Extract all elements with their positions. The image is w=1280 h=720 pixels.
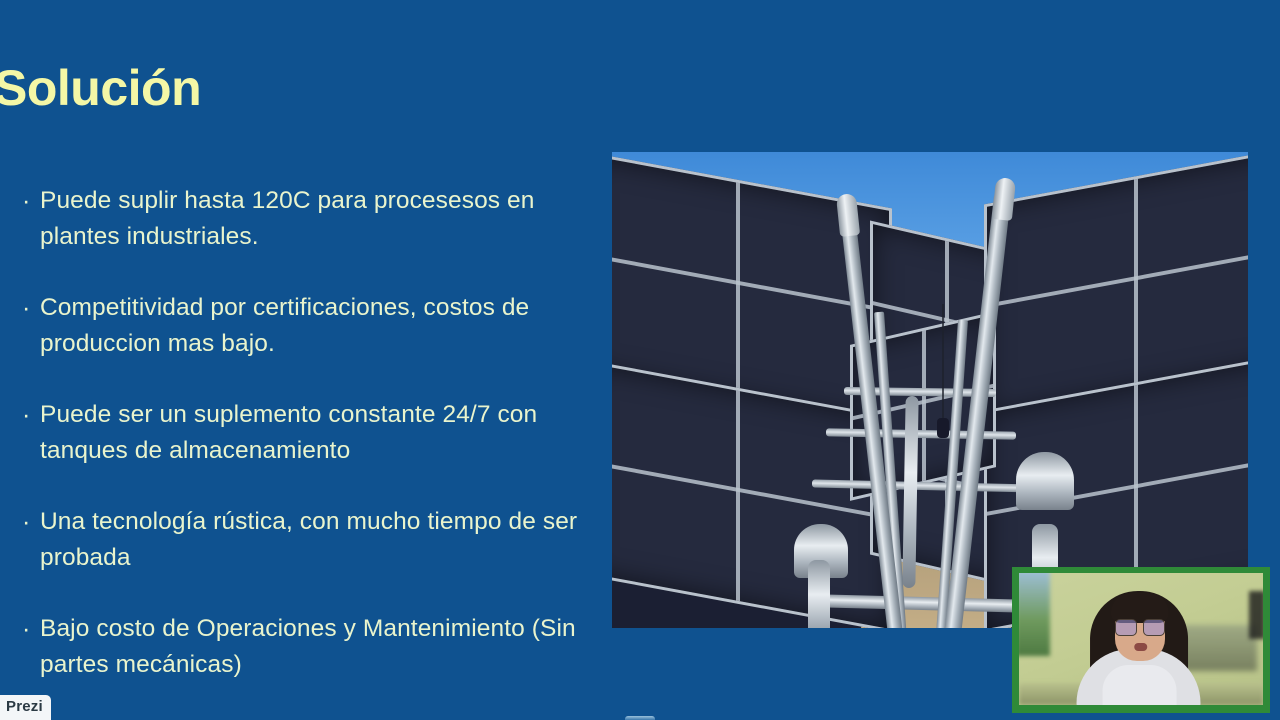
player-control-handle[interactable] bbox=[625, 716, 655, 720]
list-item-label: Competitividad por certificaciones, cost… bbox=[40, 290, 582, 361]
list-item: · Bajo costo de Operaciones y Mantenimie… bbox=[22, 611, 582, 682]
presenter-shirt bbox=[1103, 665, 1177, 705]
bullet-marker-icon: · bbox=[22, 290, 40, 326]
bullet-marker-icon: · bbox=[22, 183, 40, 219]
pipe-elbow bbox=[1016, 452, 1074, 510]
list-item: · Puede ser un suplemento constante 24/7… bbox=[22, 397, 582, 468]
presentation-slide-view: Solución · Puede suplir hasta 120C para … bbox=[0, 0, 1280, 720]
webcam-dark-object bbox=[1249, 591, 1263, 639]
presenter-glasses bbox=[1115, 619, 1165, 634]
list-item: · Una tecnología rústica, con mucho tiem… bbox=[22, 504, 582, 575]
prezi-branding-badge[interactable]: Prezi bbox=[0, 695, 51, 720]
webcam-window bbox=[1019, 573, 1050, 656]
bullet-marker-icon: · bbox=[22, 504, 40, 540]
solar-thermal-collector-field-photo bbox=[612, 152, 1248, 628]
bullet-marker-icon: · bbox=[22, 397, 40, 433]
pipe-segment bbox=[808, 560, 830, 628]
list-item-label: Puede suplir hasta 120C para procesesos … bbox=[40, 183, 582, 254]
bullet-marker-icon: · bbox=[22, 611, 40, 647]
presenter-webcam-overlay[interactable] bbox=[1012, 567, 1270, 713]
list-item: · Puede suplir hasta 120C para proceseso… bbox=[22, 183, 582, 254]
presenter-mouth bbox=[1134, 643, 1147, 651]
list-item: · Competitividad por certificaciones, co… bbox=[22, 290, 582, 361]
hanging-wire bbox=[942, 304, 944, 422]
bullet-list: · Puede suplir hasta 120C para proceseso… bbox=[22, 183, 582, 718]
webcam-video-frame bbox=[1019, 573, 1263, 705]
list-item-label: Puede ser un suplemento constante 24/7 c… bbox=[40, 397, 582, 468]
list-item-label: Bajo costo de Operaciones y Mantenimient… bbox=[40, 611, 582, 682]
list-item-label: Una tecnología rústica, con mucho tiempo… bbox=[40, 504, 582, 575]
page-title: Solución bbox=[0, 63, 201, 113]
